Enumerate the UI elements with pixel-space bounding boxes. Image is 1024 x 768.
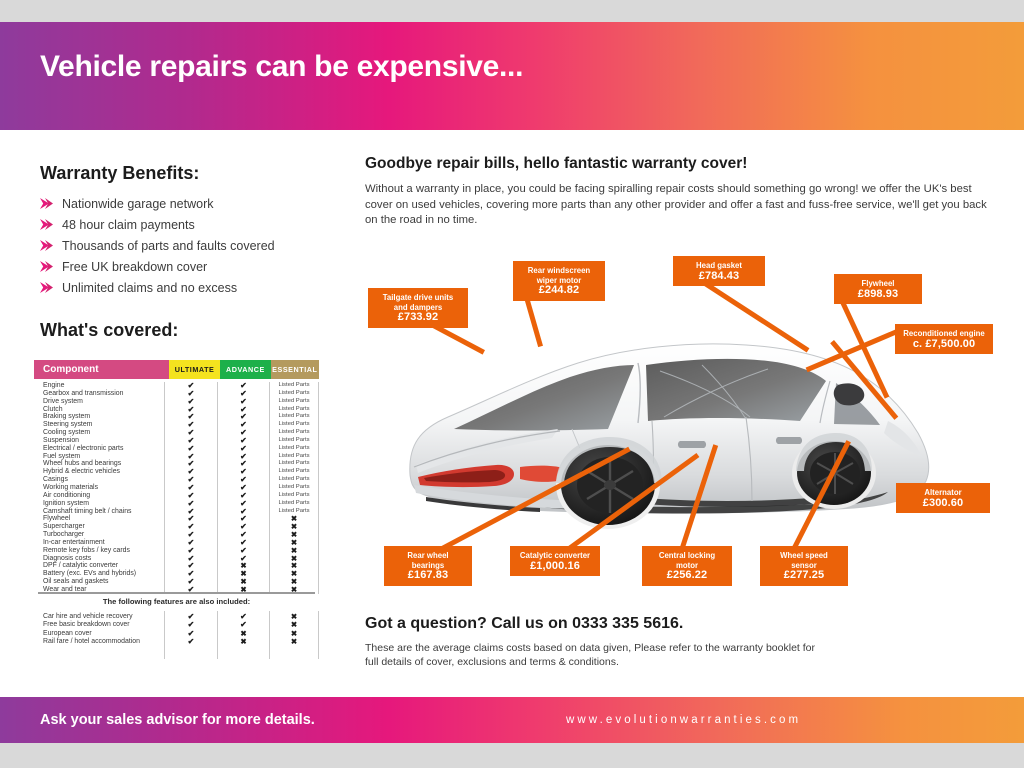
right-paragraph: Without a warranty in place, you could b… [365,182,995,229]
table-divider [38,592,315,594]
arrow-icon [40,240,62,251]
component-name: Remote key fobs / key cards [43,547,164,555]
callout-amount: £277.25 [768,571,840,581]
arrow-icon [40,198,62,209]
listed-parts-label: Listed Parts [270,484,318,492]
component-name: Steering system [43,421,164,429]
component-name: Cooling system [43,429,164,437]
component-name-column: EngineGearbox and transmissionDrive syst… [34,382,164,594]
column-header-component: Component [34,360,169,379]
callout-label: Reconditioned engine [903,329,984,338]
whats-covered-title: What's covered: [40,320,178,341]
component-name: Camshaft timing belt / chains [43,508,164,516]
arrow-icon [40,219,62,230]
listed-parts-label: Listed Parts [270,413,318,421]
callout-amount: £244.82 [521,286,597,296]
callout-flywheel: Flywheel £898.93 [834,274,922,304]
callout-label: Central locking motor [659,551,715,570]
warranty-benefits-title: Warranty Benefits: [40,163,199,184]
listed-parts-label: Listed Parts [270,460,318,468]
listed-parts-label: Listed Parts [270,492,318,500]
callout-reconditioned-engine: Reconditioned engine c. £7,500.00 [895,324,993,354]
callout-label: Rear wheel bearings [407,551,448,570]
listed-parts-label: Listed Parts [270,429,318,437]
footer-cta: Ask your sales advisor for more details. [40,712,315,728]
essential-marks-column: Listed PartsListed PartsListed PartsList… [269,382,319,594]
benefit-item: Unlimited claims and no excess [40,277,340,298]
poster-page: Vehicle repairs can be expensive... Warr… [0,0,1024,768]
callout-label: Flywheel [862,279,895,288]
benefit-label: 48 hour claim payments [62,218,195,232]
component-name: Braking system [43,413,164,421]
callout-rear-wheel-bearings: Rear wheel bearings £167.83 [384,546,472,586]
benefit-label: Free UK breakdown cover [62,260,207,274]
callout-amount: £898.93 [842,290,914,300]
extras-ultimate-column: ✔✔✔✔ [164,611,217,659]
cross-icon: ✖ [270,638,318,646]
coverage-table-body: EngineGearbox and transmissionDrive syst… [34,379,319,594]
callout-amount: c. £7,500.00 [903,340,985,350]
component-name: Engine [43,382,164,390]
extras-table: Car hire and vehicle recoveryFree basic … [34,611,319,659]
coverage-table: Component ULTIMATE ADVANCE ESSENTIAL Eng… [34,360,319,594]
question-disclaimer: These are the average claims costs based… [365,641,815,669]
callout-alternator: Alternator £300.60 [896,483,990,513]
callout-label: Head gasket [696,261,742,270]
right-heading: Goodbye repair bills, hello fantastic wa… [365,155,747,173]
benefit-label: Unlimited claims and no excess [62,281,237,295]
coverage-table-header: Component ULTIMATE ADVANCE ESSENTIAL [34,360,319,379]
listed-parts-label: Listed Parts [270,421,318,429]
listed-parts-label: Listed Parts [270,476,318,484]
component-name: Wheel hubs and bearings [43,460,164,468]
component-name: Flywheel [43,515,164,523]
callout-tailgate-drive-units: Tailgate drive units and dampers £733.92 [368,288,468,328]
component-name: Air conditioning [43,492,164,500]
component-name: Casings [43,476,164,484]
listed-parts-label: Listed Parts [270,445,318,453]
callout-label: Rear windscreen wiper motor [528,266,590,285]
cross-icon: ✖ [218,638,269,646]
component-name: Oil seals and gaskets [43,578,164,586]
extras-advance-column: ✔✔✖✖ [217,611,269,659]
callout-rear-windscreen-wiper-motor: Rear windscreen wiper motor £244.82 [513,261,605,301]
component-name: Ignition system [43,500,164,508]
column-header-advance: ADVANCE [220,360,270,379]
arrow-icon [40,261,62,272]
component-name: Electrical / electronic parts [43,445,164,453]
component-name: Working materials [43,484,164,492]
tick-icon: ✔ [165,638,217,646]
callout-head-gasket: Head gasket £784.43 [673,256,765,286]
component-name: Turbocharger [43,531,164,539]
extra-feature-name: Rail fare / hotel accommodation [43,638,164,646]
extra-feature-name: Car hire and vehicle recovery [43,613,164,621]
vehicle-diagram: Tailgate drive units and dampers £733.92… [362,250,1002,590]
callout-catalytic-converter: Catalytic converter £1,000.16 [510,546,600,576]
callout-amount: £256.22 [650,571,724,581]
listed-parts-label: Listed Parts [270,500,318,508]
extras-essential-column: ✖✖✖✖ [269,611,319,659]
column-header-essential: ESSENTIAL [271,360,319,379]
callout-amount: £1,000.16 [518,562,592,572]
advance-marks-column: ✔✔✔✔✔✔✔✔✔✔✔✔✔✔✔✔✔✔✔✔✔✔✔✖✖✖✖ [217,382,269,594]
component-name: Diagnosis costs [43,555,164,563]
component-name: Suspension [43,437,164,445]
callout-amount: £733.92 [376,313,460,323]
component-name: Battery (exc. EVs and hybrids) [43,570,164,578]
page-title: Vehicle repairs can be expensive... [40,50,523,84]
component-name: Gearbox and transmission [43,390,164,398]
benefit-label: Nationwide garage network [62,197,213,211]
benefit-label: Thousands of parts and faults covered [62,239,275,253]
callout-label: Alternator [924,488,961,497]
listed-parts-label: Listed Parts [270,390,318,398]
benefit-item: Free UK breakdown cover [40,256,340,277]
benefit-item: Nationwide garage network [40,193,340,214]
callout-amount: £167.83 [392,571,464,581]
component-name: Drive system [43,398,164,406]
extra-feature-name: European cover [43,630,164,638]
component-name: Supercharger [43,523,164,531]
extras-name-column: Car hire and vehicle recoveryFree basic … [34,611,164,659]
component-name: Clutch [43,406,164,414]
arrow-icon [40,282,62,293]
listed-parts-label: Listed Parts [270,468,318,476]
callout-amount: £784.43 [681,272,757,282]
column-header-ultimate: ULTIMATE [169,360,220,379]
callout-wheel-speed-sensor: Wheel speed sensor £277.25 [760,546,848,586]
component-name: In-car entertainment [43,539,164,547]
question-heading: Got a question? Call us on 0333 335 5616… [365,615,683,633]
benefit-item: Thousands of parts and faults covered [40,235,340,256]
listed-parts-label: Listed Parts [270,382,318,390]
listed-parts-label: Listed Parts [270,453,318,461]
warranty-benefits-list: Nationwide garage network48 hour claim p… [40,193,340,298]
callout-amount: £300.60 [904,499,982,509]
component-name: Hybrid & electric vehicles [43,468,164,476]
callout-central-locking-motor: Central locking motor £256.22 [642,546,732,586]
listed-parts-label: Listed Parts [270,406,318,414]
callout-label: Wheel speed sensor [780,551,828,570]
listed-parts-label: Listed Parts [270,437,318,445]
component-name: DPF / catalytic converter [43,562,164,570]
component-name: Fuel system [43,453,164,461]
car-illustration [402,325,942,540]
extra-feature-name: Free basic breakdown cover [43,621,164,629]
callout-label: Tailgate drive units and dampers [383,293,453,312]
callout-label: Catalytic converter [520,551,590,560]
footer-website[interactable]: www.evolutionwarranties.com [566,714,801,726]
extras-title: The following features are also included… [34,597,319,606]
benefit-item: 48 hour claim payments [40,214,340,235]
listed-parts-label: Listed Parts [270,398,318,406]
ultimate-marks-column: ✔✔✔✔✔✔✔✔✔✔✔✔✔✔✔✔✔✔✔✔✔✔✔✔✔✔✔ [164,382,217,594]
